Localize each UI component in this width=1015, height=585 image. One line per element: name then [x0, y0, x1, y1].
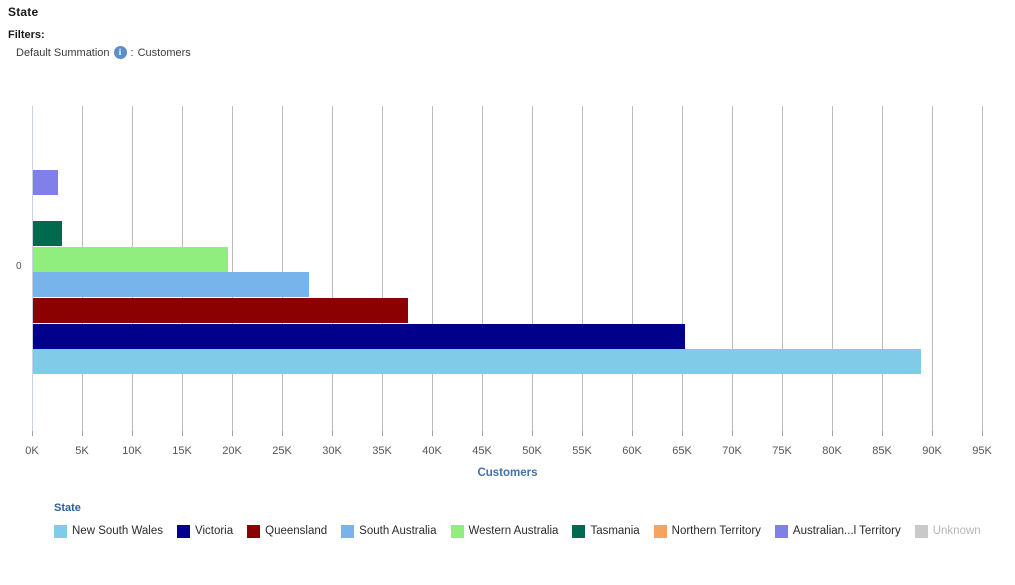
x-axis-tick-label: 5K — [75, 445, 88, 457]
x-axis-tick-label: 25K — [272, 445, 292, 457]
legend-item[interactable]: Northern Territory — [654, 521, 761, 541]
x-axis-tickmark — [532, 431, 533, 436]
x-axis-tickmark — [582, 431, 583, 436]
x-axis-tick-label: 30K — [322, 445, 342, 457]
legend-item-label: New South Wales — [72, 521, 163, 541]
x-axis-tickmark — [82, 431, 83, 436]
x-axis-tickmark — [732, 431, 733, 436]
x-axis-tick-label: 80K — [822, 445, 842, 457]
bar[interactable] — [33, 247, 228, 272]
x-axis-ticks — [0, 431, 1015, 441]
bar[interactable] — [33, 349, 921, 374]
legend-swatch-icon — [451, 525, 464, 538]
legend-item-label: Unknown — [933, 521, 981, 541]
x-axis-tickmark — [632, 431, 633, 436]
y-axis-zero-label: 0 — [16, 261, 22, 272]
x-axis-tick-label: 50K — [522, 445, 542, 457]
legend-item[interactable]: Victoria — [177, 521, 233, 541]
x-axis-tick-label: 40K — [422, 445, 442, 457]
x-axis-tickmark — [432, 431, 433, 436]
legend-item[interactable]: Queensland — [247, 521, 327, 541]
legend-items: New South WalesVictoriaQueenslandSouth A… — [54, 521, 1004, 541]
x-axis-tick-label: 85K — [872, 445, 892, 457]
x-axis-tickmark — [182, 431, 183, 436]
legend-item-label: Western Australia — [469, 521, 559, 541]
gridline — [982, 106, 983, 431]
legend-swatch-icon — [915, 525, 928, 538]
x-axis-tickmark — [332, 431, 333, 436]
legend-swatch-icon — [247, 525, 260, 538]
bar[interactable] — [33, 170, 58, 195]
legend: State New South WalesVictoriaQueenslandS… — [54, 502, 1004, 541]
x-axis-tick-label: 10K — [122, 445, 142, 457]
x-axis-tick-label: 45K — [472, 445, 492, 457]
legend-item-label: Northern Territory — [672, 521, 761, 541]
x-axis-tick-label: 60K — [622, 445, 642, 457]
bar[interactable] — [33, 272, 309, 297]
legend-item[interactable]: Tasmania — [572, 521, 639, 541]
x-axis-tickmark — [882, 431, 883, 436]
legend-swatch-icon — [775, 525, 788, 538]
legend-swatch-icon — [572, 525, 585, 538]
bar-series — [33, 106, 977, 431]
bar[interactable] — [33, 221, 62, 246]
bar[interactable] — [33, 324, 685, 349]
x-axis-tickmark — [32, 431, 33, 436]
chart-plot-area: 0 Customers 0K5K10K15K20K25K30K35K40K45K… — [0, 0, 1015, 585]
x-axis-tickmark — [832, 431, 833, 436]
x-axis-tickmark — [932, 431, 933, 436]
x-axis-tick-label: 15K — [172, 445, 192, 457]
x-axis-tick-label: 0K — [25, 445, 38, 457]
x-axis-tickmark — [232, 431, 233, 436]
x-axis-title: Customers — [0, 467, 1015, 479]
x-axis-tickmark — [782, 431, 783, 436]
legend-item-label: Victoria — [195, 521, 233, 541]
legend-swatch-icon — [654, 525, 667, 538]
legend-item-label: Queensland — [265, 521, 327, 541]
x-axis-tickmark — [682, 431, 683, 436]
x-axis-tick-label: 20K — [222, 445, 242, 457]
x-axis-tick-label: 95K — [972, 445, 992, 457]
x-axis-tickmark — [482, 431, 483, 436]
legend-item[interactable]: New South Wales — [54, 521, 163, 541]
bar[interactable] — [33, 298, 408, 323]
legend-swatch-icon — [54, 525, 67, 538]
legend-item-label: South Australia — [359, 521, 436, 541]
legend-swatch-icon — [177, 525, 190, 538]
x-axis-tickmark — [282, 431, 283, 436]
legend-item[interactable]: South Australia — [341, 521, 436, 541]
legend-item-label: Australian...l Territory — [793, 521, 901, 541]
x-axis-tickmark — [982, 431, 983, 436]
x-axis-tickmark — [132, 431, 133, 436]
legend-item[interactable]: Western Australia — [451, 521, 559, 541]
legend-title: State — [54, 502, 1004, 514]
legend-swatch-icon — [341, 525, 354, 538]
legend-item[interactable]: Unknown — [915, 521, 981, 541]
x-axis-tickmark — [382, 431, 383, 436]
x-axis-tick-label: 65K — [672, 445, 692, 457]
legend-item[interactable]: Australian...l Territory — [775, 521, 901, 541]
x-axis-tick-label: 35K — [372, 445, 392, 457]
legend-item-label: Tasmania — [590, 521, 639, 541]
x-axis-tick-label: 90K — [922, 445, 942, 457]
x-axis-tick-label: 55K — [572, 445, 592, 457]
x-axis-tick-label: 70K — [722, 445, 742, 457]
x-axis-tick-label: 75K — [772, 445, 792, 457]
